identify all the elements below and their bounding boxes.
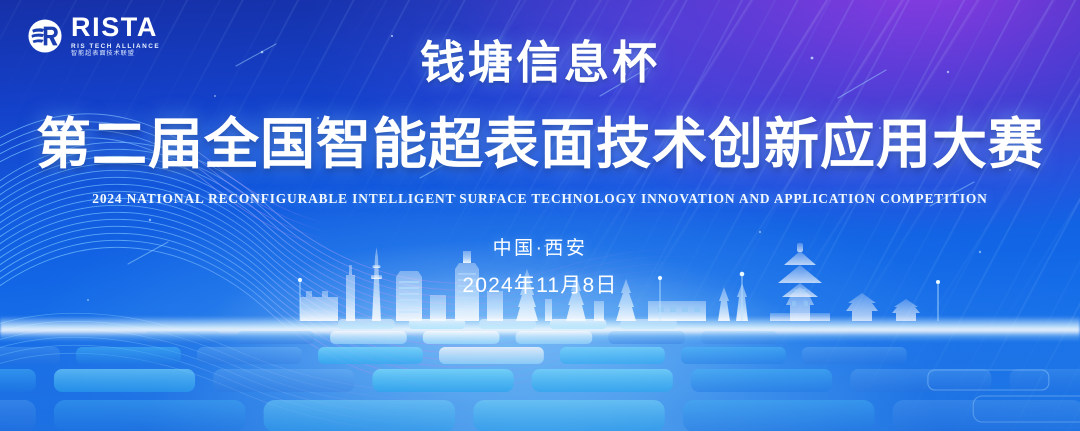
banner-text-content: 钱塘信息杯 第二届全国智能超表面技术创新应用大赛 2024 NATIONAL R… xyxy=(0,0,1080,299)
english-subtitle: 2024 NATIONAL RECONFIGURABLE INTELLIGENT… xyxy=(0,191,1080,207)
event-banner: RISTA RIS TECH ALLIANCE 智能超表面技术联盟 钱塘信息杯 … xyxy=(0,0,1080,431)
main-title: 第二届全国智能超表面技术创新应用大赛 xyxy=(0,99,1080,179)
metasurface-tile-grid xyxy=(0,318,1080,431)
event-location: 中国·西安 xyxy=(0,233,1080,260)
horizon-glow xyxy=(0,316,1080,342)
event-date: 2024年11月8日 xyxy=(0,269,1080,299)
kicker-title: 钱塘信息杯 xyxy=(0,26,1080,91)
